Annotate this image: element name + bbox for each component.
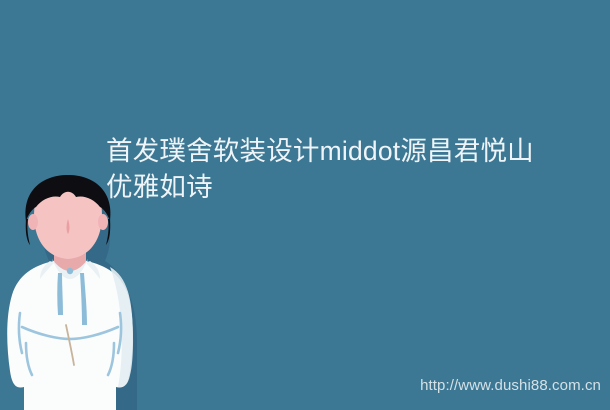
source-url-watermark: http://www.dushi88.com.cn	[420, 377, 601, 394]
page-title: 首发璞舍软装设计middot源昌君悦山优雅如诗	[106, 133, 556, 205]
hoodie	[7, 259, 133, 410]
person-illustration	[0, 175, 140, 410]
article-cover-banner: 首发璞舍软装设计middot源昌君悦山优雅如诗 http://www.dushi…	[0, 0, 610, 410]
